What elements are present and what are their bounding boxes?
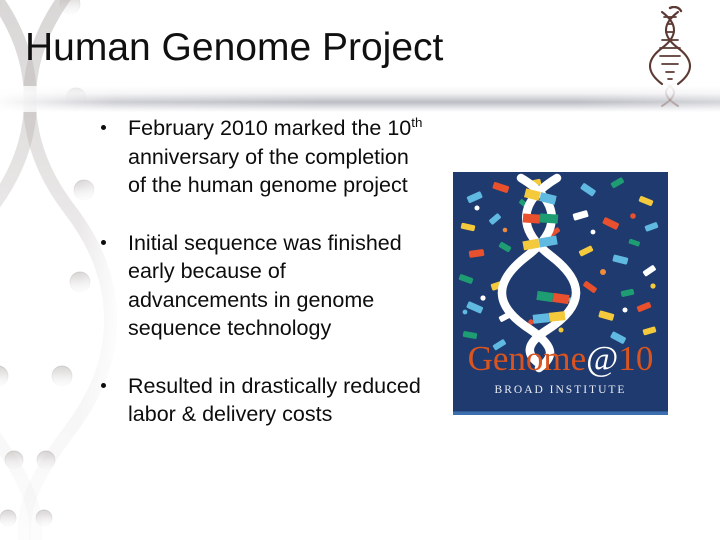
bullet-marker-icon (101, 125, 106, 130)
bullet-superscript-1: th (411, 115, 422, 130)
bullet-text-1-before: February 2010 marked the 10 (128, 116, 411, 140)
bullet-marker-icon (101, 240, 106, 245)
wordmark-prefix: Genome (468, 339, 587, 378)
bullet-marker-icon (101, 383, 106, 388)
list-item: February 2010 marked the 10th anniversar… (96, 114, 426, 200)
list-item: Initial sequence was finished early beca… (96, 229, 426, 343)
wordmark-at-icon: @ (586, 339, 618, 378)
wordmark-suffix: 10 (618, 339, 653, 378)
genome-wordmark: Genome@10 (453, 340, 668, 378)
title-divider-band (0, 86, 720, 112)
bullet-text-3: Resulted in drastically reduced labor & … (128, 374, 421, 427)
presentation-slide: Human Genome Project February 2010 marke… (0, 0, 720, 540)
list-item: Resulted in drastically reduced labor & … (96, 372, 426, 429)
broad-institute-lockup: BROAD INSTITUTE (453, 384, 668, 396)
broad-institute-logo-icon (453, 384, 668, 415)
bullet-text-1-after: anniversary of the completion of the hum… (128, 145, 409, 198)
bullet-list: February 2010 marked the 10th anniversar… (96, 114, 426, 429)
dna-helix-icon (648, 6, 694, 124)
bullet-text-2: Initial sequence was finished early beca… (128, 231, 402, 341)
genome-poster-artwork (453, 172, 668, 415)
genome-at-10-image: Genome@10 BROAD INSTITUTE (453, 172, 668, 415)
page-title: Human Genome Project (25, 24, 443, 72)
